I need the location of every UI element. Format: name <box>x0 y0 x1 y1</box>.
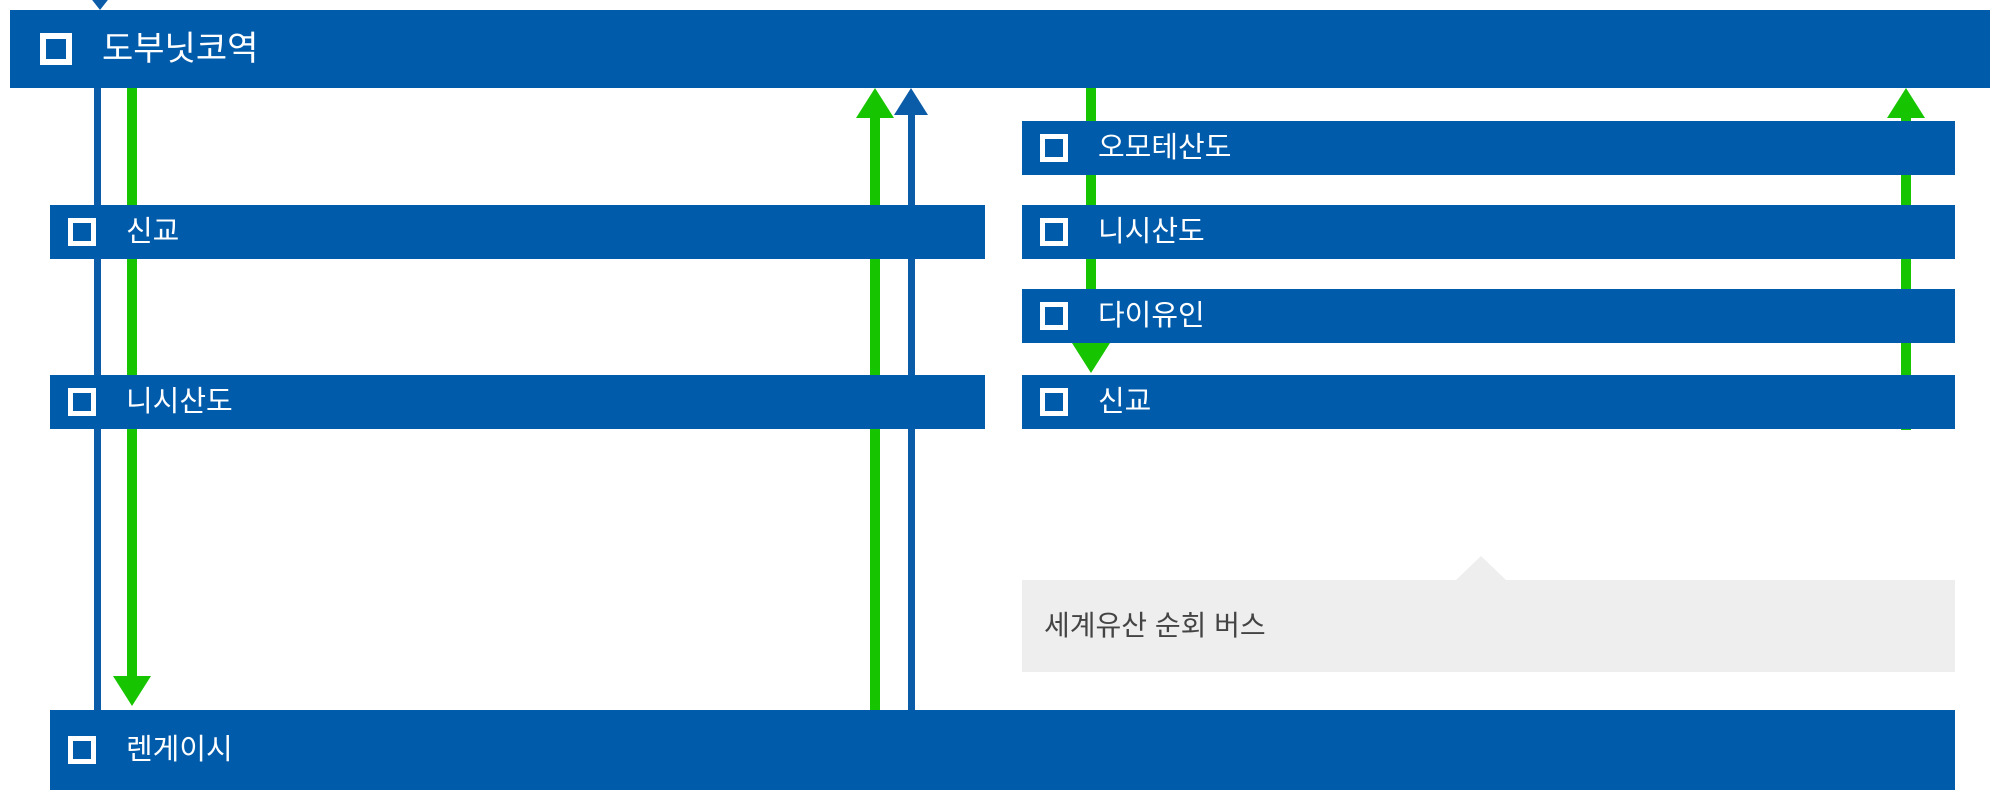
bus-stop-icon <box>68 388 96 416</box>
station-label: 렌게이시 <box>126 736 233 765</box>
station-bar-shinkyo-right[interactable]: 신교 <box>1022 375 1955 429</box>
bus-stop-icon <box>1040 388 1068 416</box>
route-arrow-green-down-into-rengeishi <box>113 676 151 706</box>
station-label: 니시산도 <box>126 388 233 417</box>
station-label: 도부닛코역 <box>102 32 258 66</box>
station-label: 니시산도 <box>1098 218 1205 247</box>
route-callout[interactable]: 세계유산 순회 버스 <box>1022 580 1955 672</box>
callout-pointer-icon <box>1455 556 1507 581</box>
bus-stop-icon <box>1040 134 1068 162</box>
station-label: 오모테산도 <box>1098 134 1231 163</box>
station-bar-shinkyo-left[interactable]: 신교 <box>50 205 985 259</box>
station-label: 신교 <box>126 218 179 247</box>
station-label: 신교 <box>1098 388 1151 417</box>
station-bar-daiyuin[interactable]: 다이유인 <box>1022 289 1955 343</box>
station-bar-omotesando[interactable]: 오모테산도 <box>1022 121 1955 175</box>
station-bar-nishisando-left[interactable]: 니시산도 <box>50 375 985 429</box>
station-label: 다이유인 <box>1098 302 1205 331</box>
route-arrow-green-up-to-tobu-nikko <box>856 88 894 118</box>
bus-stop-icon <box>1040 302 1068 330</box>
route-arrow-green-down-into-shinkyo <box>1072 343 1110 373</box>
bus-stop-icon <box>68 736 96 764</box>
bus-stop-icon <box>40 33 72 65</box>
station-bar-tobu-nikko[interactable]: 도부닛코역 <box>10 10 1990 88</box>
station-bar-nishisando-right[interactable]: 니시산도 <box>1022 205 1955 259</box>
callout-label: 세계유산 순회 버스 <box>1044 612 1266 640</box>
route-arrow-blue-up-to-tobu-nikko <box>894 88 928 115</box>
station-bar-rengeishi[interactable]: 렌게이시 <box>50 710 1955 790</box>
route-arrow-blue-into-header <box>89 0 111 10</box>
route-diagram-canvas: 도부닛코역 신교 니시산도 오모테산도 니시산도 다이유인 신교 렌게이시 세계… <box>0 0 2000 790</box>
bus-stop-icon <box>1040 218 1068 246</box>
route-arrow-green-up-right <box>1887 88 1925 118</box>
bus-stop-icon <box>68 218 96 246</box>
